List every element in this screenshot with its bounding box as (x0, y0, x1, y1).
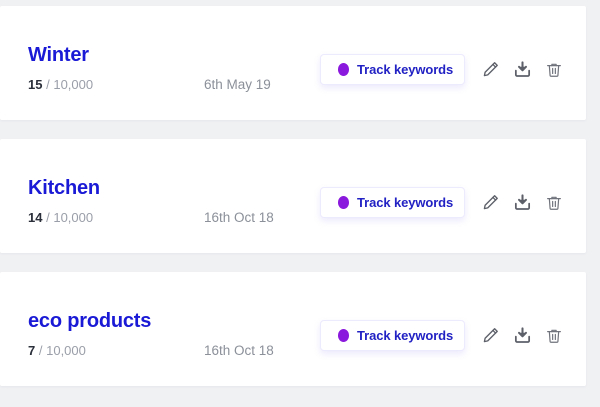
keyword-quota: 14 / 10,000 (28, 209, 93, 227)
list-item-content: eco products 7 / 10,000 16th Oct 18 Trac… (0, 272, 586, 386)
track-keywords-button[interactable]: Track keywords (320, 187, 465, 218)
track-keywords-button[interactable]: Track keywords (320, 320, 465, 351)
status-dot-icon (338, 63, 349, 76)
download-icon[interactable] (510, 190, 534, 215)
edit-icon[interactable] (478, 57, 502, 82)
project-name[interactable]: eco products (28, 308, 151, 334)
project-name[interactable]: Kitchen (28, 175, 100, 201)
download-icon[interactable] (510, 323, 534, 348)
row-actions (478, 323, 566, 348)
quota-total: 10,000 (53, 210, 93, 225)
list-item[interactable]: Winter 15 / 10,000 6th May 19 Track keyw… (0, 6, 586, 120)
edit-icon[interactable] (478, 323, 502, 348)
track-keywords-label: Track keywords (357, 328, 453, 343)
project-date: 16th Oct 18 (204, 342, 274, 360)
track-keywords-label: Track keywords (357, 62, 453, 77)
download-icon[interactable] (510, 57, 534, 82)
quota-used: 7 (28, 343, 35, 358)
row-actions (478, 190, 566, 215)
row-actions (478, 57, 566, 82)
quota-used: 14 (28, 210, 42, 225)
keyword-quota: 15 / 10,000 (28, 76, 93, 94)
list-item[interactable]: Kitchen 14 / 10,000 16th Oct 18 Track ke… (0, 139, 586, 253)
quota-used: 15 (28, 77, 42, 92)
quota-total: 10,000 (46, 343, 86, 358)
list-item[interactable]: eco products 7 / 10,000 16th Oct 18 Trac… (0, 272, 586, 386)
track-keywords-label: Track keywords (357, 195, 453, 210)
list-item-content: Kitchen 14 / 10,000 16th Oct 18 Track ke… (0, 139, 586, 253)
project-list: Winter 15 / 10,000 6th May 19 Track keyw… (0, 0, 600, 407)
project-date: 16th Oct 18 (204, 209, 274, 227)
trash-icon[interactable] (542, 190, 566, 215)
quota-separator: / (46, 77, 50, 92)
trash-icon[interactable] (542, 57, 566, 82)
keyword-quota: 7 / 10,000 (28, 342, 86, 360)
project-name[interactable]: Winter (28, 42, 89, 68)
quota-separator: / (39, 343, 43, 358)
status-dot-icon (338, 196, 349, 209)
quota-separator: / (46, 210, 50, 225)
trash-icon[interactable] (542, 323, 566, 348)
track-keywords-button[interactable]: Track keywords (320, 54, 465, 85)
edit-icon[interactable] (478, 190, 502, 215)
list-item-content: Winter 15 / 10,000 6th May 19 Track keyw… (0, 6, 586, 120)
status-dot-icon (338, 329, 349, 342)
quota-total: 10,000 (53, 77, 93, 92)
project-date: 6th May 19 (204, 76, 271, 94)
